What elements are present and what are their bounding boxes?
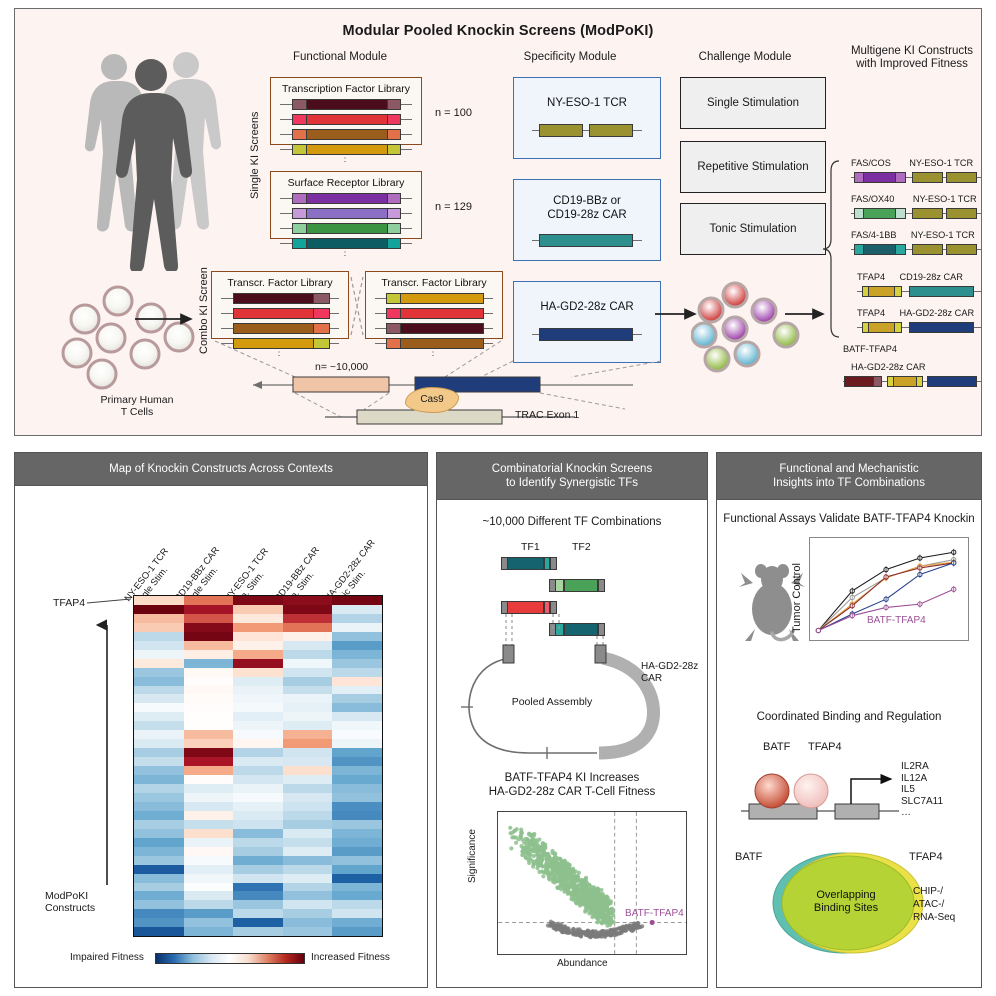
heatmap-cell <box>332 677 382 686</box>
combo-library-box-right: Transcr. Factor Library ⋮ <box>365 271 503 339</box>
column-header-specificity: Specificity Module <box>490 51 650 64</box>
volcano-point <box>539 862 543 866</box>
heatmap-cell <box>332 623 382 632</box>
volcano-point <box>588 910 592 914</box>
heatmap-cell <box>283 918 333 927</box>
construct-bar <box>280 208 412 219</box>
edited-cells-cluster-icon <box>691 277 811 373</box>
volcano-point <box>534 846 538 850</box>
volcano-point <box>539 846 543 850</box>
heatmap-cell <box>184 847 234 856</box>
heatmap-cell <box>283 596 333 605</box>
construct-bar <box>280 114 412 125</box>
heatmap-column <box>332 596 382 936</box>
heatmap-cell <box>184 605 234 614</box>
heatmap-cell <box>233 829 283 838</box>
heatmap-cell <box>283 757 333 766</box>
construct-label-right: HA-GD2-28z CAR <box>851 362 926 372</box>
heatmap-cell <box>283 874 333 883</box>
volcano-point <box>575 927 579 931</box>
volcano-point <box>559 864 563 868</box>
heatmap-cell <box>134 650 184 659</box>
heatmap-grid[interactable] <box>133 595 383 937</box>
car-label: HA-GD2-28z CAR <box>641 661 698 685</box>
heatmap-cell <box>332 632 382 641</box>
gene-item: IL2RA <box>901 761 943 773</box>
volcano-points <box>498 812 686 954</box>
multigene-construct-row: FAS/4-1BB NY-ESO-1 TCR <box>851 225 981 255</box>
ellipsis: ⋮ <box>271 249 421 256</box>
heatmap-cell <box>332 784 382 793</box>
heatmap-cell <box>184 766 234 775</box>
volcano-xlabel: Abundance <box>557 958 608 969</box>
volcano-point <box>520 837 524 841</box>
tfap4-protein-label: TFAP4 <box>808 741 842 753</box>
heatmap-cell <box>332 820 382 829</box>
construct-bar <box>532 124 642 137</box>
volcano-point <box>565 861 569 865</box>
volcano-point <box>624 929 628 933</box>
volcano-point <box>540 869 544 873</box>
heatmap-cell <box>283 802 333 811</box>
volcano-point <box>600 896 604 900</box>
volcano-point <box>558 875 562 879</box>
heatmap-cell <box>283 650 333 659</box>
heatmap-cell <box>233 721 283 730</box>
heatmap-cell <box>134 838 184 847</box>
heatmap-cell <box>134 721 184 730</box>
volcano-point <box>638 925 642 929</box>
gene-item: IL5 <box>901 784 943 796</box>
heatmap-cell <box>134 748 184 757</box>
volcano-point <box>536 859 540 863</box>
heatmap-cell <box>332 900 382 909</box>
construct-label-left: TFAP4 <box>857 272 885 282</box>
volcano-point <box>541 841 545 845</box>
volcano-point <box>594 888 598 892</box>
construct-bar <box>221 338 339 349</box>
volcano-point <box>548 877 552 881</box>
construct-bar <box>280 193 412 204</box>
volcano-point <box>525 837 529 841</box>
construct-bar <box>280 129 412 140</box>
heatmap-cell <box>233 757 283 766</box>
colorbar-label-low: Impaired Fitness <box>70 952 144 963</box>
heatmap-cell <box>184 641 234 650</box>
heatmap-cell <box>134 900 184 909</box>
heatmap-cell <box>184 748 234 757</box>
heatmap-cell <box>134 632 184 641</box>
volcano-title: BATF-TFAP4 KI Increases HA-GD2-28z CAR T… <box>437 771 707 799</box>
heatmap-cell <box>134 883 184 892</box>
heatmap-cell <box>233 802 283 811</box>
volcano-point <box>592 934 596 938</box>
volcano-point <box>585 883 589 887</box>
volcano-point <box>609 933 613 937</box>
target-gene-list: IL2RA IL12A IL5 SLC7A11 … <box>901 761 943 819</box>
volcano-point <box>527 848 531 852</box>
heatmap-cell <box>184 856 234 865</box>
assay-item: ATAC-/ <box>913 898 955 911</box>
cas9-protein: Cas9 <box>405 387 459 413</box>
heatmap-cell <box>184 668 234 677</box>
volcano-point <box>620 925 624 929</box>
heatmap-cell <box>134 847 184 856</box>
construct-bar <box>375 308 493 319</box>
tf2-label: TF2 <box>572 541 591 553</box>
heatmap-cell <box>134 766 184 775</box>
volcano-point <box>610 907 614 911</box>
heatmap-cell <box>233 874 283 883</box>
heatmap-cell <box>332 721 382 730</box>
construct-label-right: HA-GD2-28z CAR <box>900 308 975 318</box>
multigene-construct-row: FAS/COS NY-ESO-1 TCR <box>851 153 981 183</box>
heatmap-cell <box>233 730 283 739</box>
construct-label-right: NY-ESO-1 TCR <box>911 230 975 240</box>
heatmap-cell <box>332 650 382 659</box>
heatmap-cell <box>233 856 283 865</box>
heatmap-cell <box>184 775 234 784</box>
heatmap-cell <box>283 605 333 614</box>
heatmap-cell <box>134 909 184 918</box>
volcano-point <box>575 890 579 894</box>
specificity-label: NY-ESO-1 TCR <box>514 96 660 110</box>
human-silhouettes-icon <box>53 31 243 271</box>
library-n-count: n = 129 <box>435 201 472 213</box>
volcano-point <box>509 846 513 850</box>
heatmap-cell <box>184 865 234 874</box>
heatmap-cell <box>184 811 234 820</box>
heatmap-cell <box>134 811 184 820</box>
volcano-point <box>583 877 587 881</box>
combo-library-box-left: Transcr. Factor Library ⋮ <box>211 271 349 339</box>
heatmap-cell <box>283 659 333 668</box>
volcano-point <box>594 899 598 903</box>
heatmap-cell <box>332 703 382 712</box>
heatmap-cell <box>134 793 184 802</box>
heatmap-container: NY-ESO-1 TCR Single Stim. CD19-BBz CAR S… <box>15 453 427 987</box>
volcano-point <box>524 856 528 860</box>
construct-label-left: BATF-TFAP4 <box>843 344 897 354</box>
heatmap-cell <box>134 730 184 739</box>
tf-construct-1 <box>501 557 557 570</box>
library-title: Surface Receptor Library <box>271 177 421 189</box>
heatmap-cell <box>184 721 234 730</box>
volcano-point <box>559 868 563 872</box>
volcano-point <box>592 893 596 897</box>
volcano-point <box>602 915 606 919</box>
figure-root: Modular Pooled Knockin Screens (ModPoKI) <box>0 0 996 996</box>
heatmap-cell <box>332 614 382 623</box>
heatmap-cell <box>233 900 283 909</box>
heatmap-cell <box>134 668 184 677</box>
volcano-point <box>580 890 584 894</box>
volcano-point <box>519 844 523 848</box>
volcano-point <box>586 903 590 907</box>
heatmap-cell <box>283 677 333 686</box>
volcano-point <box>587 929 591 933</box>
heatmap-cell <box>332 605 382 614</box>
volcano-point <box>609 921 613 925</box>
library-n-count: n = 100 <box>435 107 472 119</box>
volcano-point <box>561 879 565 883</box>
volcano-point <box>516 837 520 841</box>
specificity-label: HA-GD2-28z CAR <box>514 300 660 314</box>
heatmap-cell <box>233 650 283 659</box>
specificity-label: CD19-BBz or CD19-28z CAR <box>514 194 660 222</box>
heatmap-cell <box>184 659 234 668</box>
volcano-point <box>555 885 559 889</box>
tumor-marker <box>816 628 820 632</box>
construct-bar <box>851 172 981 183</box>
top-overview-panel: Modular Pooled Knockin Screens (ModPoKI) <box>14 8 982 436</box>
heatmap-cell <box>233 793 283 802</box>
volcano-point <box>534 842 538 846</box>
heatmap-cell <box>233 784 283 793</box>
volcano-point <box>604 931 608 935</box>
heatmap-cell <box>184 802 234 811</box>
heatmap-cell <box>184 703 234 712</box>
construct-label-left: TFAP4 <box>857 308 885 318</box>
heatmap-cell <box>184 650 234 659</box>
volcano-point <box>571 882 575 886</box>
construct-bar <box>221 293 339 304</box>
heatmap-cell <box>283 694 333 703</box>
volcano-point <box>564 874 568 878</box>
construct-bar <box>280 223 412 234</box>
heatmap-cell <box>283 703 333 712</box>
heatmap-cell <box>134 856 184 865</box>
heatmap-colorbar <box>155 953 305 964</box>
panel-knockin-map: Map of Knockin Constructs Across Context… <box>14 452 428 988</box>
volcano-point <box>627 925 631 929</box>
volcano-point <box>605 924 609 928</box>
tumor-annotation-batf-tfap4: BATF-TFAP4 <box>867 615 926 626</box>
volcano-annotation-batf-tfap4: BATF-TFAP4 <box>625 908 684 919</box>
heatmap-cell <box>283 668 333 677</box>
heatmap-cell <box>233 686 283 695</box>
heatmap-cell <box>233 703 283 712</box>
volcano-point <box>614 931 618 935</box>
construct-bar <box>280 99 412 110</box>
coordinated-binding-title: Coordinated Binding and Regulation <box>717 711 981 723</box>
heatmap-cell <box>233 820 283 829</box>
panel-mid-header: Combinatorial Knockin Screens to Identif… <box>437 453 707 500</box>
heatmap-cell <box>184 730 234 739</box>
heatmap-cell <box>283 847 333 856</box>
volcano-point <box>582 901 586 905</box>
heatmap-cell <box>332 739 382 748</box>
heatmap-cell <box>134 686 184 695</box>
heatmap-cell <box>134 784 184 793</box>
heatmap-cell <box>233 739 283 748</box>
volcano-point <box>589 906 593 910</box>
heatmap-cell <box>332 659 382 668</box>
tf-construct-3 <box>501 601 557 614</box>
heatmap-cell <box>134 739 184 748</box>
construct-bar <box>280 238 412 249</box>
assay-item: RNA-Seq <box>913 911 955 924</box>
tf1-label: TF1 <box>521 541 540 553</box>
volcano-point <box>577 931 581 935</box>
challenge-single-stimulation: Single Stimulation <box>680 77 826 129</box>
volcano-point <box>551 866 555 870</box>
ellipsis: ⋮ <box>366 349 502 356</box>
heatmap-row-label-tfap4: TFAP4 <box>53 597 85 609</box>
heatmap-cell <box>184 694 234 703</box>
heatmap-cell <box>184 927 234 936</box>
heatmap-cell <box>233 712 283 721</box>
heatmap-cell <box>283 811 333 820</box>
multigene-construct-row: FAS/OX40 NY-ESO-1 TCR <box>851 189 981 219</box>
heatmap-cell <box>184 614 234 623</box>
specificity-box-cd19: CD19-BBz or CD19-28z CAR <box>513 179 661 261</box>
volcano-point <box>576 896 580 900</box>
heatmap-cell <box>283 784 333 793</box>
column-header-multigene: Multigene KI Constructs with Improved Fi… <box>837 45 987 71</box>
heatmap-cell <box>233 659 283 668</box>
volcano-point <box>571 892 575 896</box>
heatmap-cell <box>134 775 184 784</box>
construct-label-left: FAS/4-1BB <box>851 230 896 240</box>
heatmap-column <box>233 596 283 936</box>
volcano-point <box>575 876 579 880</box>
heatmap-cell <box>134 829 184 838</box>
gene-item: IL12A <box>901 773 943 785</box>
panel-functional-insights: Functional and Mechanistic Insights into… <box>716 452 982 988</box>
volcano-point <box>571 932 575 936</box>
heatmap-cell <box>184 900 234 909</box>
volcano-point <box>571 874 575 878</box>
heatmap-cell <box>233 891 283 900</box>
heatmap-cell <box>283 775 333 784</box>
library-title: Transcr. Factor Library <box>212 277 348 289</box>
multigene-construct-row: TFAP4 HA-GD2-28z CAR <box>857 303 981 333</box>
heatmap-cell <box>332 874 382 883</box>
heatmap-cell <box>184 757 234 766</box>
heatmap-cell <box>134 802 184 811</box>
volcano-point <box>558 925 562 929</box>
heatmap-cell <box>283 641 333 650</box>
heatmap-cell <box>332 829 382 838</box>
volcano-point <box>605 907 609 911</box>
heatmap-cell <box>233 623 283 632</box>
gene-item: … <box>901 807 943 819</box>
combinations-subtitle: ~10,000 Different TF Combinations <box>437 515 707 529</box>
heatmap-cell <box>184 784 234 793</box>
heatmap-cell <box>332 909 382 918</box>
volcano-point <box>510 831 514 835</box>
heatmap-cell <box>184 596 234 605</box>
panel-right-header: Functional and Mechanistic Insights into… <box>717 453 981 500</box>
heatmap-cell <box>332 883 382 892</box>
heatmap-cell <box>233 927 283 936</box>
heatmap-cell <box>283 712 333 721</box>
construct-bar <box>857 286 981 297</box>
construct-label-right: CD19-28z CAR <box>900 272 963 282</box>
volcano-point <box>548 858 552 862</box>
volcano-point <box>601 919 605 923</box>
construct-bar <box>221 323 339 334</box>
construct-bar <box>532 234 642 247</box>
volcano-point <box>546 870 550 874</box>
construct-bar <box>532 328 642 341</box>
heatmap-cell <box>233 847 283 856</box>
heatmap-cell <box>332 856 382 865</box>
heatmap-cell <box>184 909 234 918</box>
primary-t-cells-label: Primary Human T Cells <box>77 394 197 418</box>
volcano-point <box>599 888 603 892</box>
heatmap-cell <box>134 677 184 686</box>
heatmap-cell <box>283 730 333 739</box>
volcano-point <box>610 929 614 933</box>
volcano-point <box>519 827 523 831</box>
heatmap-cell <box>332 766 382 775</box>
heatmap-cell <box>134 927 184 936</box>
volcano-point <box>510 835 514 839</box>
heatmap-cell <box>332 668 382 677</box>
volcano-point <box>555 861 559 865</box>
heatmap-cell <box>184 739 234 748</box>
heatmap-cell <box>134 641 184 650</box>
batf-protein-label: BATF <box>763 741 790 753</box>
volcano-point <box>525 852 529 856</box>
heatmap-cell <box>184 632 234 641</box>
heatmap-cell <box>233 909 283 918</box>
volcano-point <box>531 862 535 866</box>
construct-bar <box>221 308 339 319</box>
heatmap-cell <box>332 918 382 927</box>
volcano-point <box>520 850 524 854</box>
heatmap-cell <box>283 739 333 748</box>
volcano-point <box>609 916 613 920</box>
transcription-factor-library-box: Transcription Factor Library ⋮ <box>270 77 422 145</box>
volcano-point <box>588 894 592 898</box>
heatmap-cell <box>134 614 184 623</box>
assay-item: CHIP-/ <box>913 885 955 898</box>
volcano-point <box>530 833 534 837</box>
heatmap-cell <box>134 623 184 632</box>
heatmap-cell <box>283 793 333 802</box>
volcano-point <box>556 857 560 861</box>
library-title: Transcription Factor Library <box>271 83 421 95</box>
construct-label-right: NY-ESO-1 TCR <box>909 158 973 168</box>
heatmap-cell <box>134 659 184 668</box>
construct-bar <box>843 376 981 387</box>
heatmap-cell <box>233 811 283 820</box>
volcano-point <box>606 896 610 900</box>
heatmap-column <box>184 596 234 936</box>
tf-construct-4 <box>549 623 605 636</box>
challenge-repetitive-stimulation: Repetitive Stimulation <box>680 141 826 193</box>
volcano-point <box>597 913 601 917</box>
volcano-plot[interactable] <box>497 811 687 955</box>
heatmap-cell <box>332 748 382 757</box>
construct-bar <box>375 338 493 349</box>
combo-ki-screen-label: Combo KI Screen <box>198 267 210 354</box>
volcano-point <box>514 841 518 845</box>
heatmap-cell <box>332 793 382 802</box>
multigene-construct-row: TFAP4 CD19-28z CAR <box>857 267 981 297</box>
heatmap-cell <box>233 677 283 686</box>
heatmap-cell <box>332 847 382 856</box>
volcano-point <box>554 923 558 927</box>
heatmap-cell <box>332 686 382 695</box>
heatmap-cell <box>184 918 234 927</box>
volcano-point <box>508 826 512 830</box>
heatmap-cell <box>233 632 283 641</box>
heatmap-cell <box>134 712 184 721</box>
